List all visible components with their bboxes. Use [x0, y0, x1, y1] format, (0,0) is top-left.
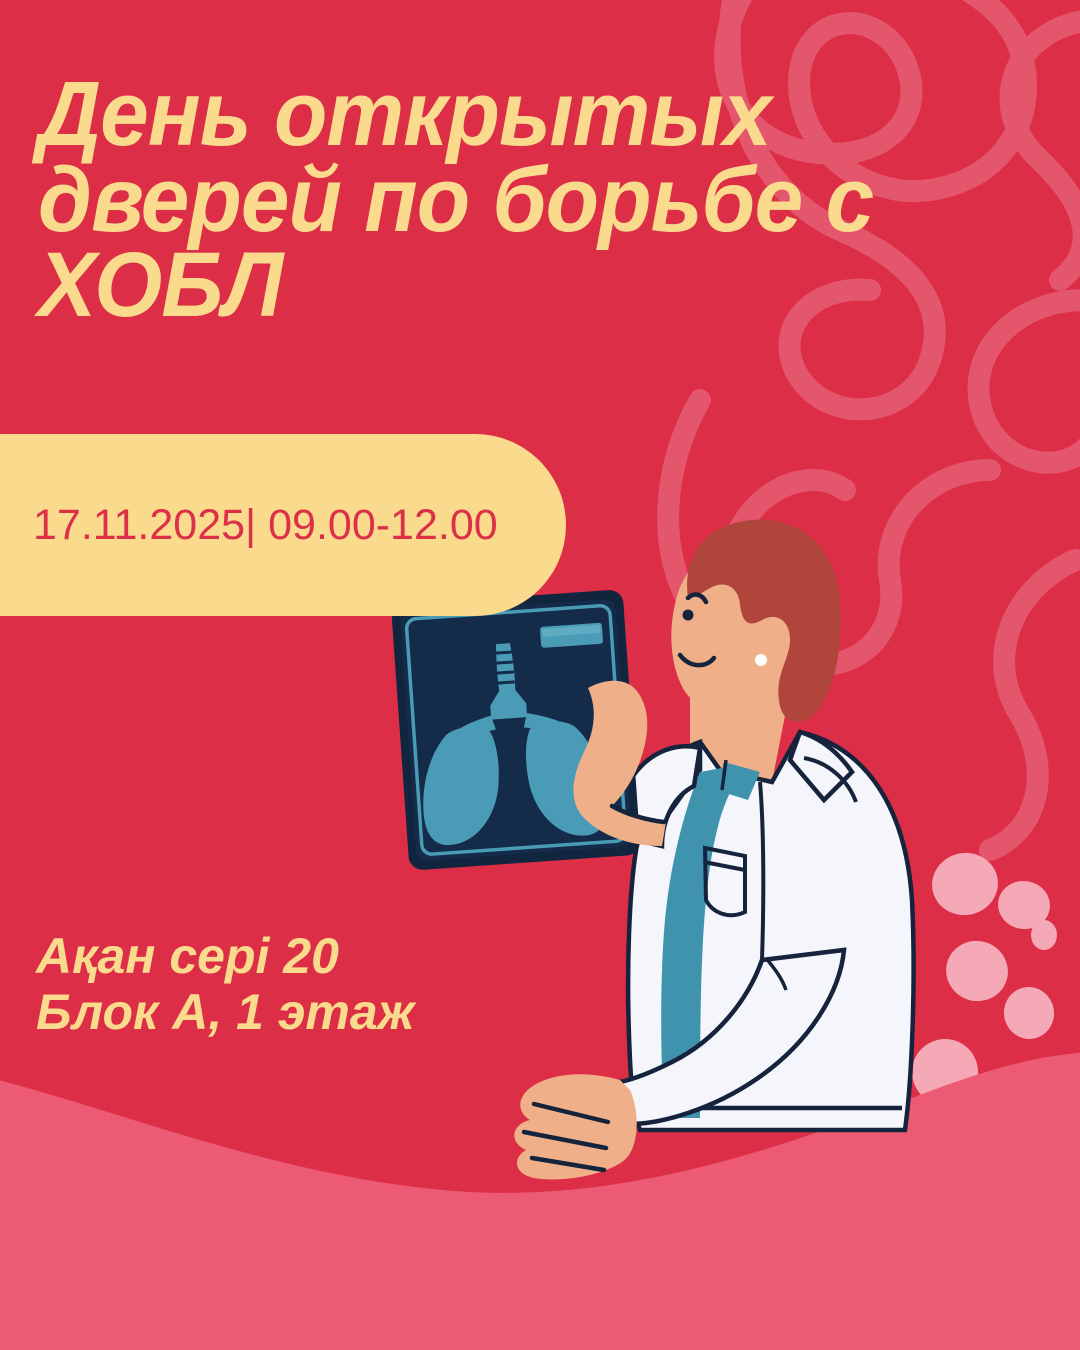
title-line-2: дверей по борьбе с [38, 158, 893, 244]
address-line-2: Блок А, 1 этаж [36, 984, 415, 1040]
address-line-1: Ақан сері 20 [36, 928, 415, 984]
title-line-1: День открытых [38, 72, 893, 158]
page-title: День открытых дверей по борьбе с ХОБЛ [38, 72, 938, 329]
earring [755, 654, 767, 666]
poster-canvas: День открытых дверей по борьбе с ХОБЛ 17… [0, 0, 1080, 1350]
date-time-text: 17.11.2025| 09.00-12.00 [33, 501, 498, 550]
address-block: Ақан сері 20 Блок А, 1 этаж [36, 928, 415, 1040]
eye [683, 610, 694, 621]
date-time-banner: 17.11.2025| 09.00-12.00 [0, 434, 566, 616]
title-line-3: ХОБЛ [38, 243, 893, 329]
